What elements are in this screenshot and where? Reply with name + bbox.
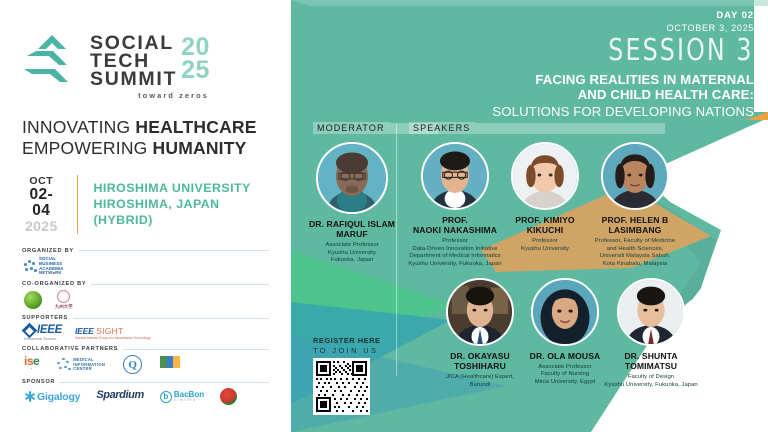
portrait-speaker-0 xyxy=(423,144,487,208)
divider xyxy=(79,250,269,251)
portrait-speaker-5 xyxy=(619,280,683,344)
portrait-speaker-3 xyxy=(448,280,512,344)
tagline-line2-bold: HUMANITY xyxy=(153,138,247,158)
partner-logo-text-b: SIGHT xyxy=(96,326,123,336)
summit-logo: SOCIAL TECH SUMMIT 20 25 toward zeros xyxy=(22,32,269,100)
left-info-panel: SOCIAL TECH SUMMIT 20 25 toward zeros IN… xyxy=(0,0,291,432)
speaker-name: DR. OLA MOUSA xyxy=(517,351,613,361)
ieee-sight-logo: IEEE SIGHT Special Interest Group on Hum… xyxy=(75,326,150,341)
partner-logo-subtext: Limited xyxy=(174,399,204,403)
event-days: 02-04 xyxy=(22,187,61,220)
grid-icon xyxy=(160,356,180,368)
social-business-academia-network-logo: SOCIALBUSINESSACADEMIANETW●RK xyxy=(24,257,63,277)
conference-poster: SOCIAL TECH SUMMIT 20 25 toward zeros IN… xyxy=(0,0,768,432)
tagline: INNOVATING HEALTHCARE EMPOWERING HUMANIT… xyxy=(22,117,269,160)
session-day: DAY 02 xyxy=(492,10,754,21)
partner-group-sponsor: SPONSOR Gigalogy Spardium xyxy=(22,379,269,407)
seal-icon xyxy=(57,290,70,303)
logo-year-bottom: 25 xyxy=(181,59,210,81)
avatar xyxy=(446,278,514,346)
strawberry-logo xyxy=(220,388,237,405)
avatar xyxy=(531,278,599,346)
session-header: DAY 02 OCTOBER 3, 2025 SESSION 3 FACING … xyxy=(492,10,754,120)
ieee-logo: IEEE Hiroshima Section xyxy=(24,324,62,341)
event-venue: HIROSHIMA UNIVERSITY HIROSHIMA, JAPAN (H… xyxy=(86,180,269,229)
speaker-name: DR. SHUNTA TOMIMATSU xyxy=(603,351,699,371)
session-title-line1: FACING REALITIES IN MATERNAL xyxy=(492,72,754,88)
speaker-affiliation: Professor Kyushu University xyxy=(497,238,593,254)
venue-line1: HIROSHIMA UNIVERSITY xyxy=(93,180,269,196)
event-date: OCT 02-04 2025 xyxy=(22,175,69,234)
session-number: SESSION 3 xyxy=(524,36,754,67)
partner-group-supporters: SUPPORTERS IEEE Hiroshima Section IEEE xyxy=(22,315,269,343)
ise-logo: ise xyxy=(24,356,39,374)
portrait-moderator xyxy=(318,144,386,212)
partner-logo-text: ise xyxy=(24,356,39,367)
partner-group-label: SPONSOR xyxy=(22,379,55,385)
partner-group-co-organized-by: CO-ORGANIZED BY 九州大学 xyxy=(22,281,269,312)
speaker-card: DR. OKAYASU TOSHIHARU JICA (Healthcare) … xyxy=(432,278,528,389)
partners-section: ORGANIZED BY SOCIALBUSINESSACADEMIANETW●… xyxy=(22,248,269,408)
tagline-line1-plain: INNOVATING xyxy=(22,117,135,137)
speaker-name: PROF. KIMIYO KIKUCHI xyxy=(497,215,593,235)
moderator-label-text: MODERATOR xyxy=(313,122,390,134)
chevron-logo-icon xyxy=(22,33,84,91)
event-year: 2025 xyxy=(22,219,61,234)
label-bar xyxy=(475,123,665,134)
medical-information-center-logo: MEDICALINFORMATIONCENTER xyxy=(57,358,105,372)
speaker-card: DR. OLA MOUSA Associate Professor Facult… xyxy=(517,278,613,387)
speakers-section-label: SPEAKERS xyxy=(409,122,665,134)
spardium-logo: Spardium xyxy=(96,389,144,405)
portrait-speaker-4 xyxy=(533,280,597,344)
speaker-affiliation: Professor, Faculty of Medicine and Healt… xyxy=(587,238,683,269)
avatar xyxy=(601,142,669,210)
divider xyxy=(73,318,269,319)
partner-logo-subtext xyxy=(31,368,32,374)
tagline-line2-plain: EMPOWERING xyxy=(22,138,153,158)
speaker-name: PROF. HELEN B LASIMBANG xyxy=(587,215,683,235)
speaker-affiliation: Faculty of Design Kyushu University, Fuk… xyxy=(603,374,699,390)
diamond-icon xyxy=(22,323,38,339)
portrait-speaker-1 xyxy=(513,144,577,208)
qr-code[interactable] xyxy=(313,358,370,415)
avatar xyxy=(511,142,579,210)
partner-logo-text: IEEE xyxy=(37,324,62,336)
speaker-affiliation: Associate Professor Faculty of Nursing M… xyxy=(517,364,613,387)
register-heading: REGISTER HERE xyxy=(313,336,381,345)
kyushu-university-logo: 九州大学 xyxy=(55,290,73,310)
venue-line2: HIROSHIMA, JAPAN (HYBRID) xyxy=(93,196,269,229)
star-icon xyxy=(24,391,35,402)
dots-icon xyxy=(24,260,37,273)
speaker-affiliation: Professor Data-Driven Innovation Initiat… xyxy=(407,238,503,269)
session-date: OCTOBER 3, 2025 xyxy=(492,23,754,33)
bacbon-logo: b BacBon Limited xyxy=(160,391,204,403)
partner-group-label: SUPPORTERS xyxy=(22,315,68,321)
logo-year-top: 20 xyxy=(181,36,210,58)
avatar xyxy=(421,142,489,210)
speaker-affiliation: JICA (Healthcare) Expert, Burundi xyxy=(432,374,528,390)
date-divider xyxy=(77,175,79,234)
partner-group-label: ORGANIZED BY xyxy=(22,248,74,254)
partner-logo-text: MEDICALINFORMATIONCENTER xyxy=(73,358,105,372)
session-title-line2: AND CHILD HEALTH CARE: xyxy=(492,87,754,103)
avatar xyxy=(316,142,388,214)
register-subheading: TO JOIN US xyxy=(313,346,381,355)
logo-word-summit: SUMMIT xyxy=(90,71,177,89)
speaker-card: PROF. HELEN B LASIMBANG Professor, Facul… xyxy=(587,142,683,269)
moderator-affiliation: Associate Professor Kyushu University Fu… xyxy=(303,242,401,265)
speakers-label-text: SPEAKERS xyxy=(409,122,475,134)
register-block[interactable]: REGISTER HERE TO JOIN US xyxy=(313,336,381,415)
globe-logo xyxy=(24,291,42,309)
arab-university-logo xyxy=(160,356,180,373)
event-date-venue: OCT 02-04 2025 HIROSHIMA UNIVERSITY HIRO… xyxy=(22,175,269,234)
partner-logo-subtext xyxy=(170,369,171,373)
speaker-card: DR. SHUNTA TOMIMATSU Faculty of Design K… xyxy=(603,278,699,389)
partner-group-organized-by: ORGANIZED BY SOCIALBUSINESSACADEMIANETW●… xyxy=(22,248,269,279)
session-panel: DAY 02 OCTOBER 3, 2025 SESSION 3 FACING … xyxy=(291,0,768,432)
event-month: OCT xyxy=(22,175,61,187)
portrait-speaker-2 xyxy=(603,144,667,208)
partner-group-collaborative-partners: COLLABORATIVE PARTNERS ise MEDICALINFORM… xyxy=(22,346,269,376)
moderator-card: DR. RAFIQUL ISLAM MARUF Associate Profes… xyxy=(303,142,401,265)
speaker-name: PROF. NAOKI NAKASHIMA xyxy=(407,215,503,235)
tagline-line1-bold: HEALTHCARE xyxy=(135,117,256,137)
moderator-name: DR. RAFIQUL ISLAM MARUF xyxy=(303,219,401,239)
partner-group-label: CO-ORGANIZED BY xyxy=(22,281,86,287)
partner-logo-text: 九州大学 xyxy=(55,304,73,310)
speaker-card: PROF. NAOKI NAKASHIMA Professor Data-Dri… xyxy=(407,142,503,269)
partner-logo-subtext xyxy=(120,401,121,405)
partner-group-label: COLLABORATIVE PARTNERS xyxy=(22,346,118,352)
session-title: FACING REALITIES IN MATERNAL AND CHILD H… xyxy=(492,72,754,120)
circle-b-icon: b xyxy=(160,391,172,403)
dots-icon xyxy=(57,358,71,372)
partner-logo-text: SOCIALBUSINESSACADEMIANETW●RK xyxy=(39,257,63,277)
partner-logo-subtext: Special Interest Group on Humanitarian T… xyxy=(75,337,150,341)
avatar xyxy=(617,278,685,346)
divider xyxy=(60,382,269,383)
partner-logo-text: Gigalogy xyxy=(37,391,80,403)
partner-logo-text: Spardium xyxy=(96,389,144,401)
divider xyxy=(123,349,269,350)
speaker-name: DR. OKAYASU TOSHIHARU xyxy=(432,351,528,371)
partner-logo-text-a: IEEE xyxy=(75,326,94,336)
q-circle-logo: Q xyxy=(123,355,142,374)
logo-tagline: toward zeros xyxy=(90,91,210,100)
divider xyxy=(91,284,269,285)
speaker-card: PROF. KIMIYO KIKUCHI Professor Kyushu Un… xyxy=(497,142,593,253)
gigalogy-logo: Gigalogy xyxy=(24,391,80,403)
session-title-line3: SOLUTIONS FOR DEVELOPING NATIONS xyxy=(492,104,754,120)
